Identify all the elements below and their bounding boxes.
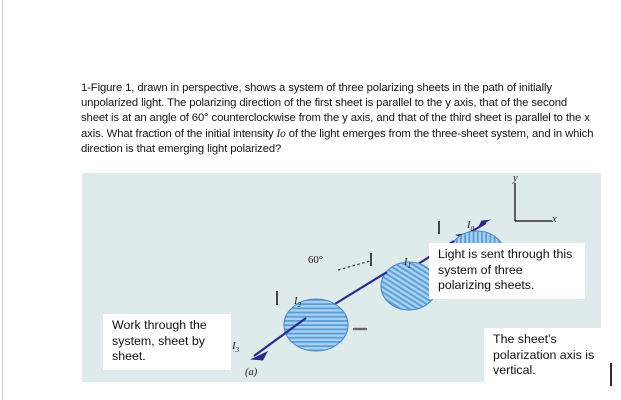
intensity-label-i1-subscript: 1: [408, 261, 412, 270]
text-cursor-mark: [610, 363, 612, 386]
problem-statement: 1-Figure 1, drawn in perspective, shows …: [81, 81, 597, 157]
angle-label-60-degrees: 60°: [308, 254, 323, 266]
intensity-label-i3-subscript: 3: [236, 345, 240, 354]
figure-caption: (a): [245, 367, 257, 378]
page-edge-line: [2, 0, 3, 400]
intensity-label-i2: I2: [294, 296, 301, 309]
callout-polarization-axis: The sheet's polarization axis is vertica…: [484, 328, 617, 384]
beam-segment-2: [330, 272, 387, 307]
callout-work-through-system: Work through the system, sheet by sheet.: [103, 314, 231, 370]
intensity-label-i1: I1: [404, 257, 411, 270]
intensity-label-i0-subscript: 0: [471, 224, 475, 233]
intensity-label-i0: I0: [467, 220, 474, 233]
intensity-label-i3: I3: [232, 341, 239, 354]
axis-label-x: x: [552, 214, 557, 225]
intensity-label-i2-subscript: 2: [298, 300, 302, 309]
figure-panel: y x I0 I1 I2 I3 60° (a) Work through the…: [82, 173, 601, 382]
axis-label-y: y: [513, 173, 518, 184]
angle-dashed-reference: [338, 261, 370, 270]
problem-text-symbol-io: Io: [277, 128, 286, 140]
coordinate-axes: [497, 173, 577, 233]
callout-light-is-sent-through: Light is sent through this system of thr…: [429, 243, 585, 299]
